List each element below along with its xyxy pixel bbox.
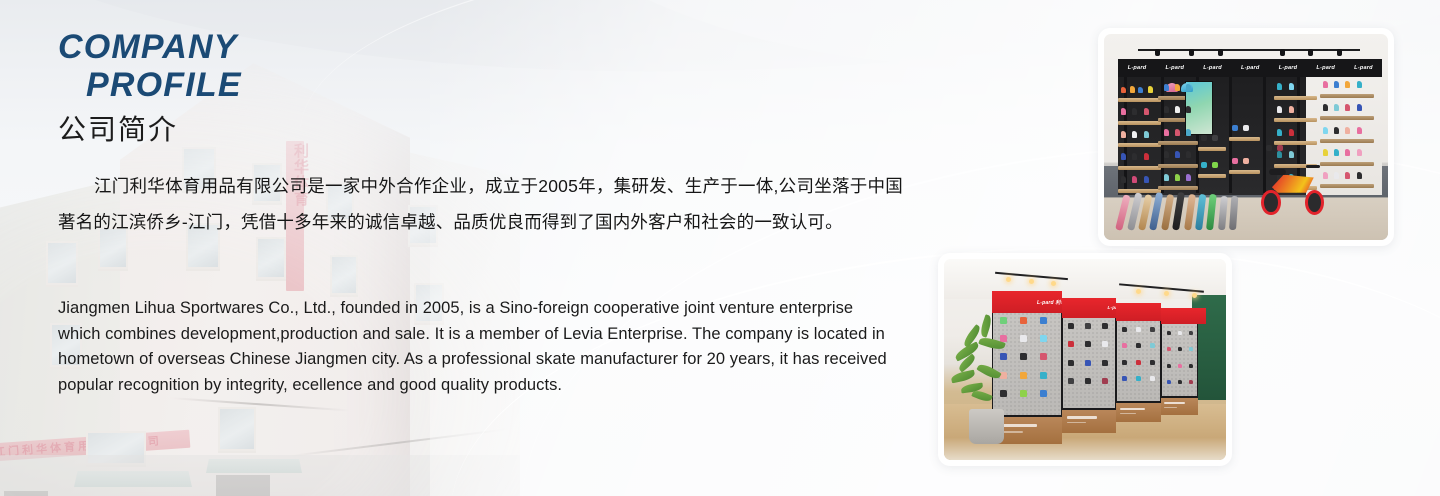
brand-banner: L-pard 利华 — [992, 291, 1063, 313]
section-title-line-1: COMPANY — [58, 28, 388, 66]
brand-banner: L-pard 利华 — [1116, 303, 1161, 321]
kids-bike — [1260, 162, 1325, 216]
profile-text-content: COMPANY PROFILE 公司简介 江门利华体育用品有限公司是一家中外合作… — [0, 0, 960, 496]
brand-banner: L-pard — [1161, 308, 1206, 324]
profile-paragraph-english: Jiangmen Lihua Sportwares Co., Ltd., fou… — [58, 296, 898, 398]
brand-label: L-pard — [1345, 65, 1383, 71]
section-title-line-2: PROFILE — [58, 66, 388, 104]
showroom-photo-bottom: L-pard 利华 L-pard 利华 L-pard 利华 L-pard — [938, 253, 1232, 466]
brand-label: L-pard — [1194, 65, 1232, 71]
profile-paragraph-chinese: 江门利华体育用品有限公司是一家中外合作企业，成立于2005年，集研发、生产于一体… — [58, 168, 903, 240]
section-title-chinese: 公司简介 — [58, 113, 178, 147]
brand-label: L-pard — [1269, 65, 1307, 71]
brand-label: L-pard — [1307, 65, 1345, 71]
brand-label: L-pard — [1156, 65, 1194, 71]
section-title-english: COMPANY PROFILE — [58, 28, 388, 104]
brand-label: L-pard — [1231, 65, 1269, 71]
showroom-photo-top: L-pard L-pard L-pard L-pard L-pard L-par… — [1098, 28, 1394, 246]
brand-label: L-pard — [1118, 65, 1156, 71]
brand-banner: L-pard 利华 — [1062, 298, 1116, 318]
company-profile-banner: 利华体育 江门利华体育用品有限公司 COMPANY PROFILE 公司简介 江… — [0, 0, 1440, 496]
potted-plant — [950, 319, 1023, 444]
brand-label-bar: L-pard L-pard L-pard L-pard L-pard L-par… — [1118, 59, 1382, 78]
